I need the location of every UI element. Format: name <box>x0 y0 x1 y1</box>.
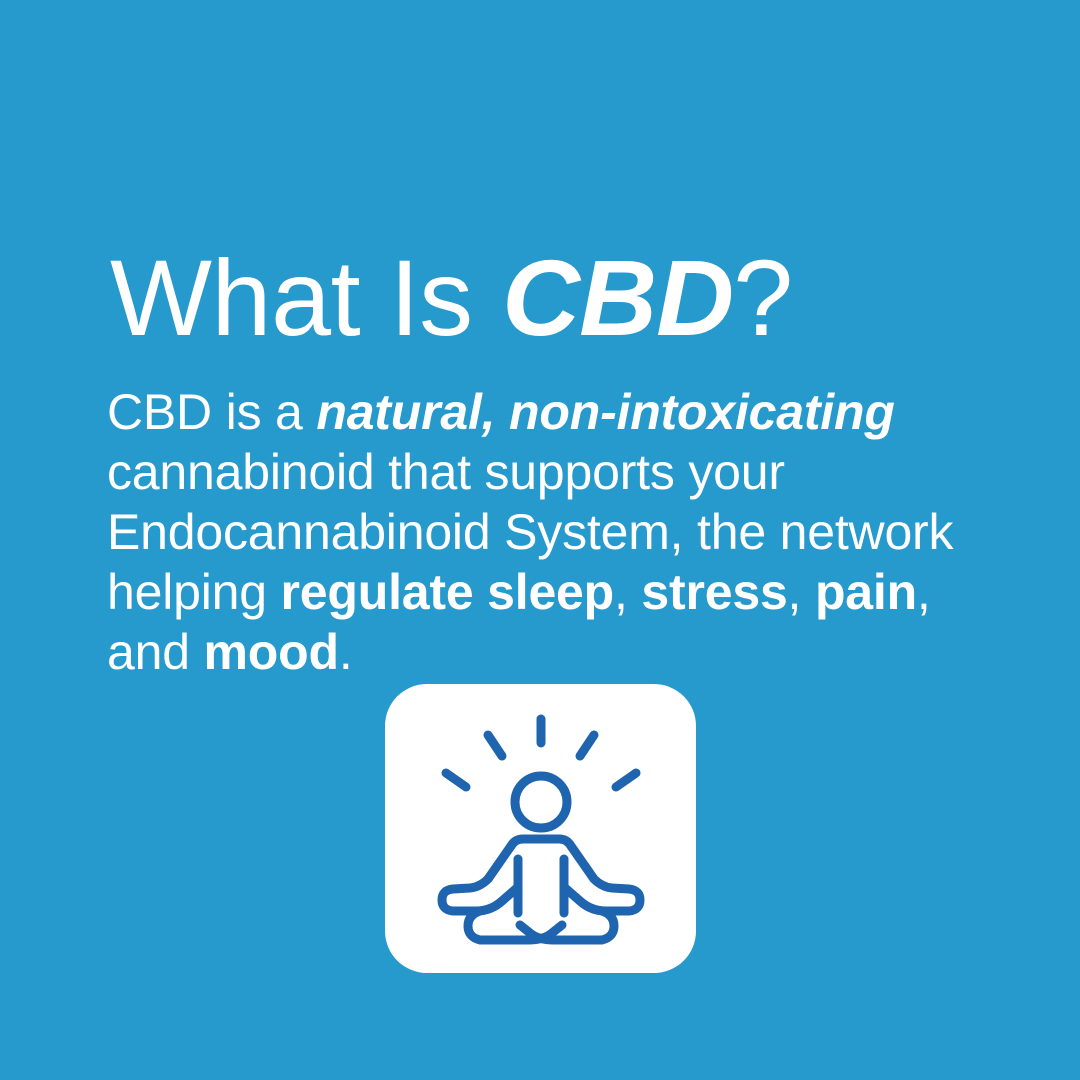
icon-card <box>385 684 696 973</box>
title-emphasis-text: CBD <box>502 237 733 358</box>
body-segment-4: , <box>614 564 641 620</box>
body-segment-0: CBD is a <box>107 384 316 440</box>
body-segment-3: regulate sleep <box>281 564 614 620</box>
body-segment-7: pain <box>815 564 917 620</box>
meditating-person-icon <box>416 711 666 946</box>
promo-graphic: What Is CBD? CBD is a natural, non-intox… <box>0 0 1080 1080</box>
body-segment-1: natural, non-intoxicating <box>316 384 894 440</box>
body-segment-6: , <box>788 564 815 620</box>
body-segment-10: . <box>339 624 353 680</box>
title-question-mark: ? <box>733 237 793 358</box>
body-segment-5: stress <box>641 564 787 620</box>
body-segment-9: mood <box>204 624 339 680</box>
page-title: What Is CBD? <box>110 244 1010 352</box>
body-paragraph: CBD is a natural, non-intoxicating canna… <box>107 382 1012 682</box>
title-plain-text: What Is <box>110 237 502 358</box>
